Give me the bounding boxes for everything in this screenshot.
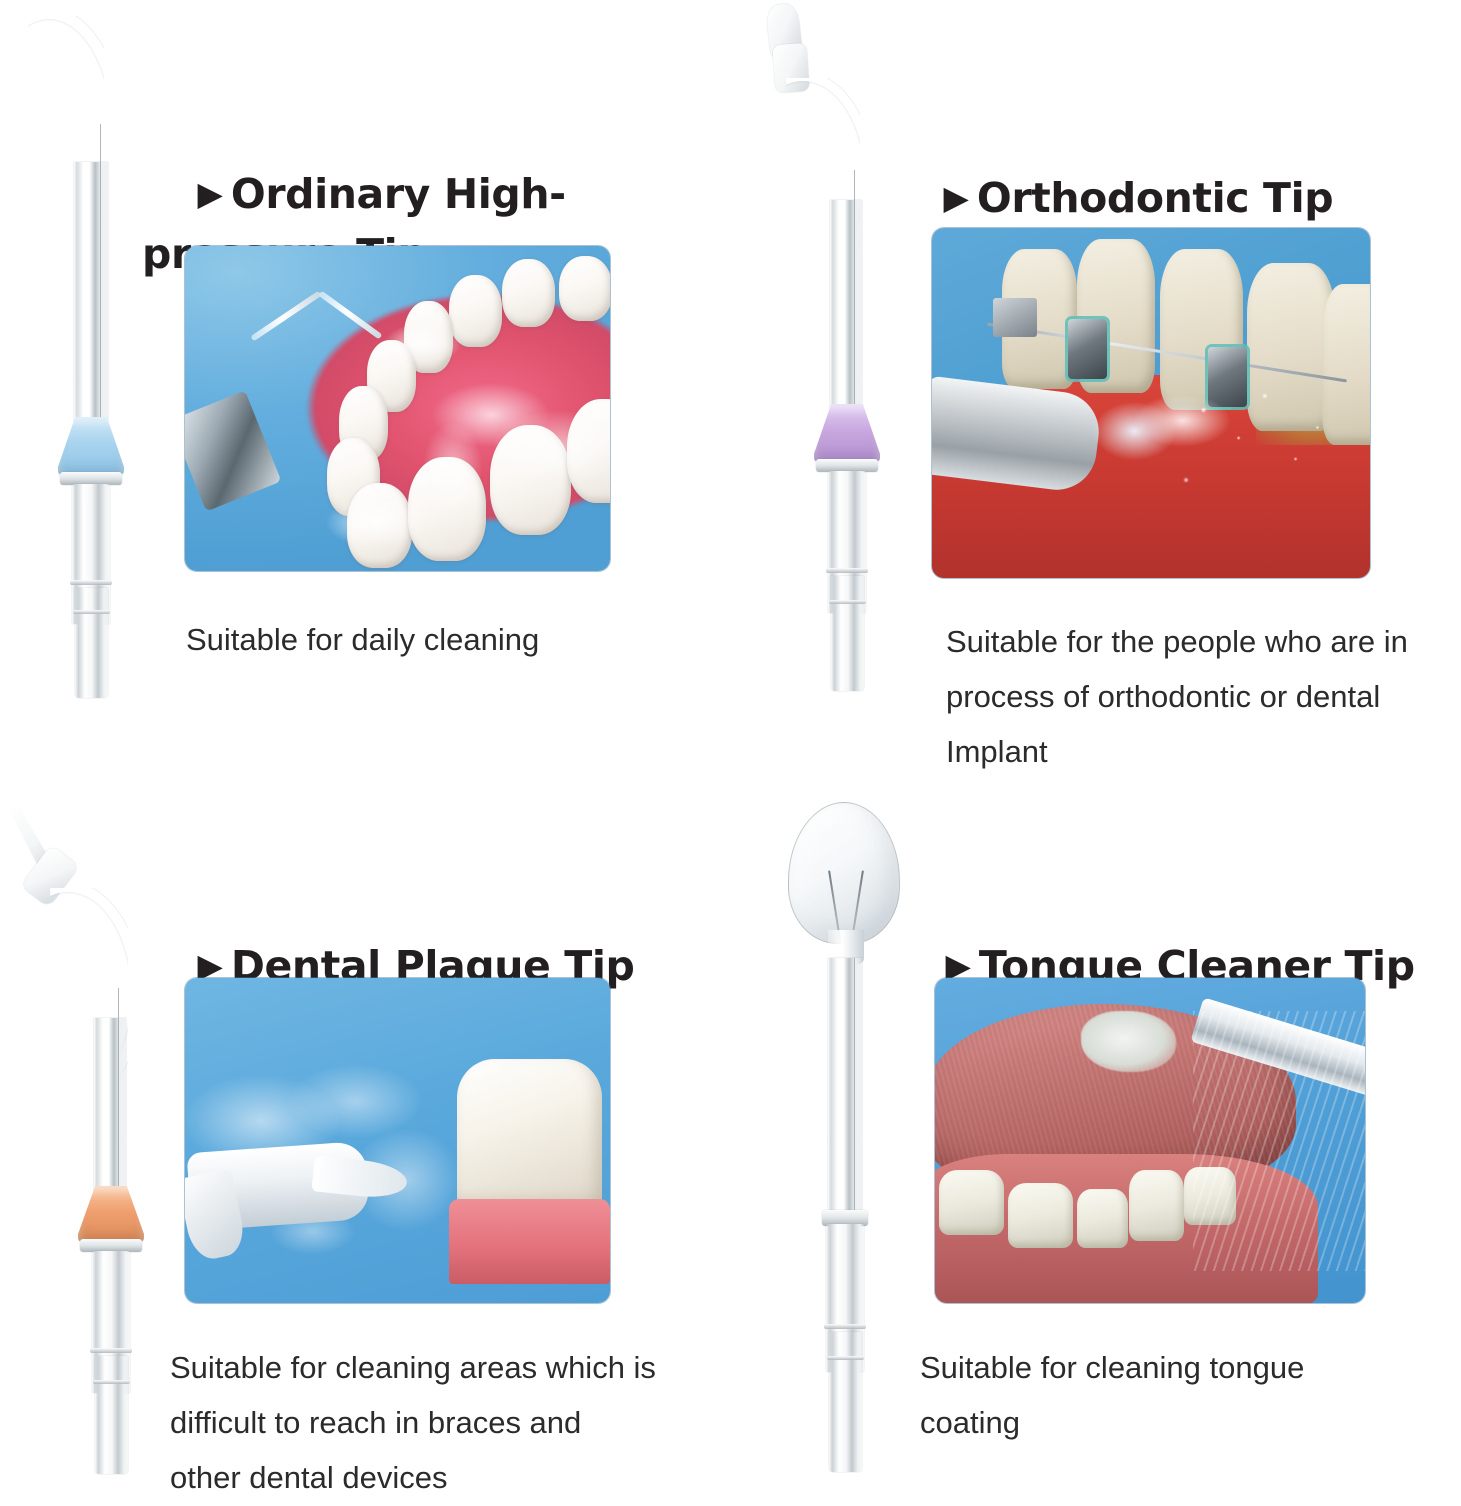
caption-line: process of orthodontic or dental <box>946 669 1461 724</box>
caption-line: Suitable for daily cleaning <box>186 612 706 667</box>
caption-orthodontic-tip: Suitable for the people who are in proce… <box>946 614 1461 780</box>
nozzle-end-cap <box>95 1356 128 1474</box>
nozzle-collar <box>58 417 124 475</box>
photo-daily-cleaning <box>185 246 610 571</box>
nozzle-band-upper <box>826 568 868 573</box>
photo-dental-plaque <box>185 978 610 1303</box>
water-droplets <box>932 228 1370 578</box>
tongue-cleaner-spoon-head <box>788 802 900 944</box>
caption-line: Implant <box>946 724 1461 779</box>
nozzle-end-cap <box>75 588 108 698</box>
caption-line: other dental devices <box>170 1450 740 1505</box>
water-spray <box>1193 1011 1365 1271</box>
nozzle-end-cap <box>829 1332 862 1472</box>
nozzle-collar <box>78 1186 144 1242</box>
nozzle-shaft-edge <box>854 170 855 442</box>
caption-line: Suitable for cleaning tongue <box>920 1340 1420 1395</box>
nozzle-shaft-edge <box>118 988 119 1216</box>
caption-dental-plaque-tip: Suitable for cleaning areas which is dif… <box>170 1340 740 1506</box>
caption-ordinary-high-pressure-tip: Suitable for daily cleaning <box>186 612 706 667</box>
nozzle-shaft-edge <box>854 958 855 1216</box>
photo-orthodontic-braces <box>932 228 1370 578</box>
nozzle-shaft <box>94 1018 126 1214</box>
caption-line: difficult to reach in braces and <box>170 1395 740 1450</box>
gum-block <box>449 1199 611 1284</box>
nozzle-band-upper <box>70 580 112 585</box>
section-tongue-cleaner-tip: ▶Tongue Cleaner Tip Suitable for cleanin… <box>730 780 1461 1500</box>
nozzle-shaft <box>74 162 108 452</box>
caption-line: Suitable for the people who are in <box>946 614 1461 669</box>
photo-tongue-cleaning <box>935 978 1365 1303</box>
nozzle-band-upper <box>824 1324 866 1329</box>
nozzle-band-lower <box>93 1380 130 1384</box>
nozzle-shaft <box>828 958 862 1216</box>
flosser-wand <box>215 285 385 376</box>
bullet-triangle-icon: ▶ <box>944 178 969 217</box>
nozzle-band-lower <box>73 610 110 614</box>
section-orthodontic-tip: ▶Orthodontic Tip Suitable for the people… <box>730 0 1461 810</box>
caption-tongue-cleaner-tip: Suitable for cleaning tongue coating <box>920 1340 1420 1450</box>
caption-line: Suitable for cleaning areas which is <box>170 1340 740 1395</box>
nozzle-shaft-edge <box>100 124 101 454</box>
heading-text: Orthodontic Tip <box>977 174 1333 222</box>
nozzle-band-lower <box>827 1356 864 1360</box>
nozzle-end-cap <box>831 576 864 691</box>
nozzle-collar <box>814 404 880 462</box>
nozzle-band-lower <box>829 600 866 604</box>
bullet-triangle-icon: ▶ <box>198 174 223 213</box>
caption-line: coating <box>920 1395 1420 1450</box>
single-tooth <box>457 1059 602 1209</box>
nozzle-band-upper <box>90 1348 132 1353</box>
nozzle-orthodontic <box>738 0 898 720</box>
section-dental-plaque-tip: ▶Dental Plaque Tip Suitable for cleaning… <box>0 780 730 1500</box>
section-ordinary-high-pressure-tip: ▶Ordinary High-pressure Tip Suitable f <box>0 0 730 750</box>
